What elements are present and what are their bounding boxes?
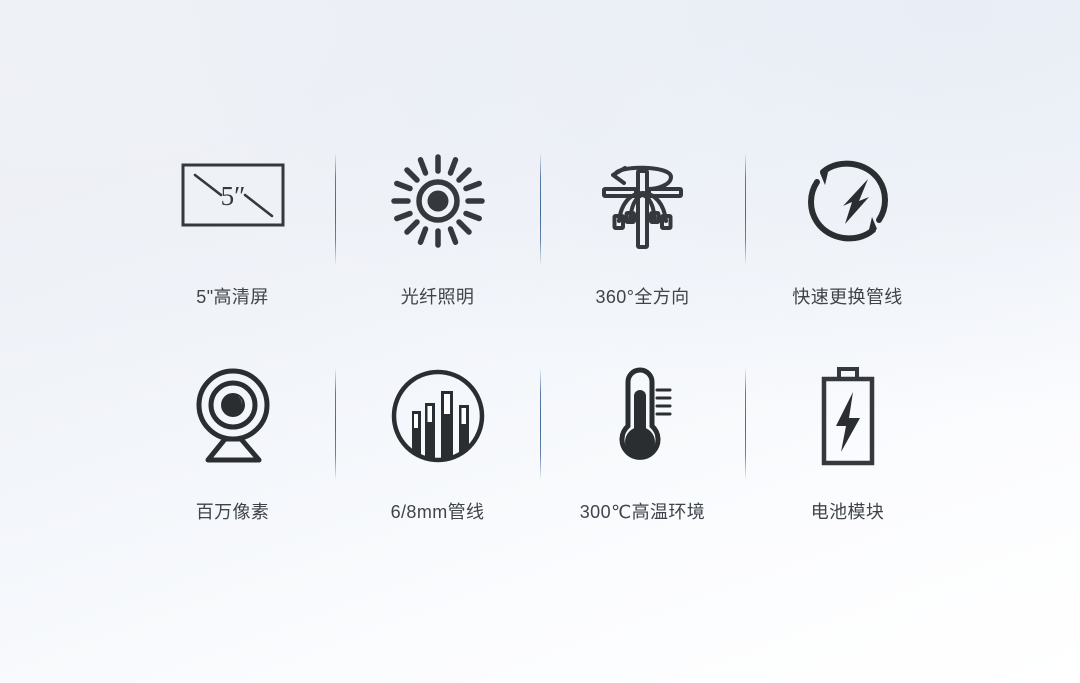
cable-diameter-icon <box>378 357 498 475</box>
column-divider <box>335 369 336 479</box>
svg-text:5″: 5″ <box>220 181 245 211</box>
feature-label: 6/8mm管线 <box>391 503 485 521</box>
feature-item-360: 360°全方向 <box>540 128 745 343</box>
column-divider <box>540 369 541 479</box>
column-divider <box>745 369 746 479</box>
quick-swap-cable-icon <box>788 142 908 260</box>
thermometer-icon <box>583 357 703 475</box>
battery-module-icon <box>788 357 908 475</box>
feature-item-cable: 6/8mm管线 <box>335 343 540 558</box>
feature-item-battery: 电池模块 <box>745 343 950 558</box>
feature-label: 光纤照明 <box>401 288 475 306</box>
feature-label: 快速更换管线 <box>792 288 902 306</box>
feature-showcase-page: 5″ 5"高清屏 <box>0 0 1080 683</box>
feature-label: 百万像素 <box>196 503 270 521</box>
column-divider <box>540 154 541 264</box>
feature-label: 300℃高温环境 <box>580 503 705 521</box>
rotation-360-probe-icon <box>583 142 703 260</box>
screen-5inch-icon: 5″ <box>173 142 293 260</box>
feature-grid: 5″ 5"高清屏 <box>130 128 950 558</box>
feature-label: 360°全方向 <box>595 288 689 306</box>
sun-fiber-light-icon <box>378 142 498 260</box>
feature-label: 电池模块 <box>811 503 885 521</box>
camera-megapixel-icon <box>173 357 293 475</box>
column-divider <box>745 154 746 264</box>
feature-item-quickswap: 快速更换管线 <box>745 128 950 343</box>
feature-item-temperature: 300℃高温环境 <box>540 343 745 558</box>
feature-item-camera: 百万像素 <box>130 343 335 558</box>
feature-item-screen: 5″ 5"高清屏 <box>130 128 335 343</box>
feature-label: 5"高清屏 <box>196 288 268 306</box>
column-divider <box>335 154 336 264</box>
feature-item-lighting: 光纤照明 <box>335 128 540 343</box>
